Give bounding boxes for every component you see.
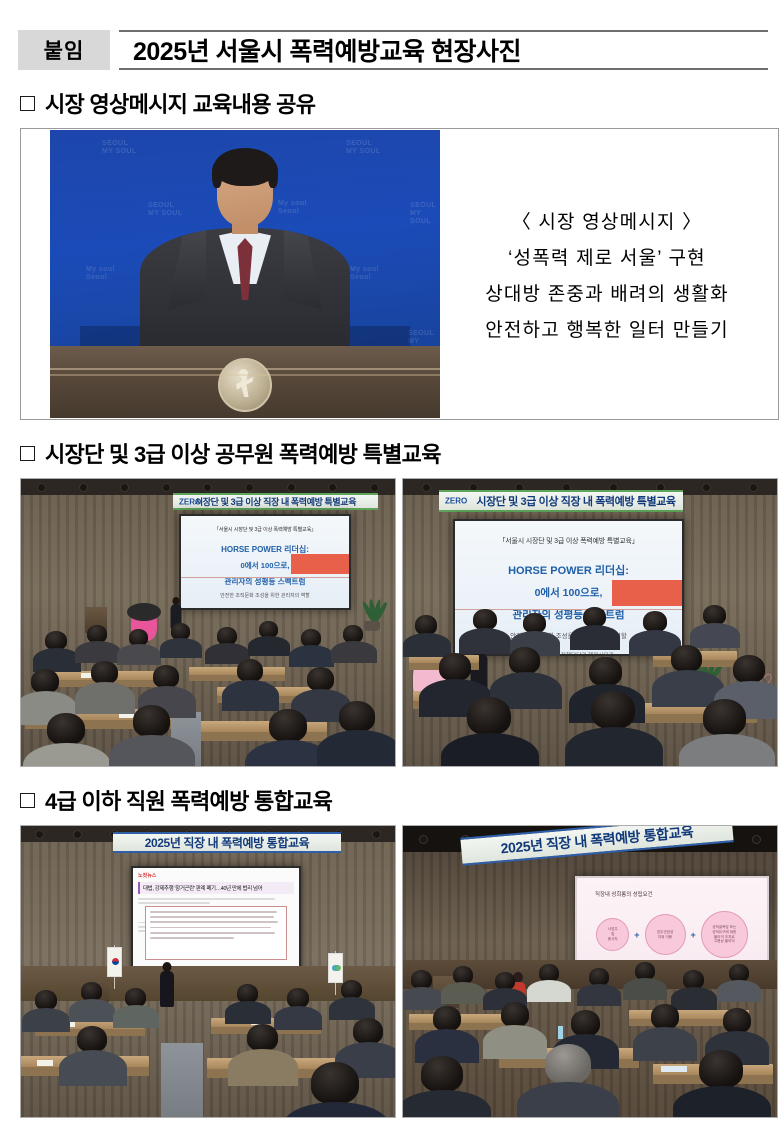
news-logo: 노컷뉴스 [138,872,294,879]
slide-header: 「서울시 시장단 및 3급 이상 폭력예방 특별교육」 [187,526,343,533]
integrated-training-photo-lecture: 2025년 직장 내 폭력예방 통합교육 노컷뉴스 대법, 강제추행 '항거곤란… [20,825,396,1118]
mayor-video-message-photo: SEOULMY SOUL SEOULMY SOUL SEOULMY SOUL S… [50,130,440,418]
section-3-label: 4급 이하 직원 폭력예방 통합교육 [45,784,332,816]
slide-header: 「서울시 시장단 및 3급 이상 폭력예방 특별교육」 [465,536,672,546]
section-heading-3: 4급 이하 직원 폭력예방 통합교육 [20,784,768,816]
section-2-photo-row: ZERO 시장단 및 3급 이상 직장 내 폭력예방 특별교육 「서울시 시장단… [20,478,779,767]
message-line-2: 상대방 존중과 배려의 생활화 [440,279,774,306]
audience-seating [403,960,777,1117]
section-heading-1: 시장 영상메시지 교육내용 공유 [20,87,768,119]
backdrop-shadow [348,326,410,346]
ceiling-lights [21,482,395,492]
plus-icon: + [634,930,639,940]
mayor-hair [214,148,276,186]
section-1-panel: SEOULMY SOUL SEOULMY SOUL SEOULMY SOUL S… [20,128,779,420]
mayor-message-text-block: 〈 시장 영상메시지 〉 ‘성폭력 제로 서울’ 구현 상대방 존중과 배려의 … [440,207,778,342]
empty-square-bullet-icon [20,96,35,111]
slide-accent-block [291,554,349,574]
slide-accent-block [612,580,682,606]
integrated-training-photo-wide: 2025년 직장 내 폭력예방 통합교육 직장내 성희롱의 성립요건 사업주 및… [402,825,778,1118]
slide-title: 직장내 성희롱의 성립요건 [595,890,759,898]
event-banner: ZERO 시장단 및 3급 이상 직장 내 폭력예방 특별교육 [439,490,683,512]
section-2-label: 시장단 및 3급 이상 공무원 폭력예방 특별교육 [45,437,441,469]
plus-icon: + [691,930,696,940]
event-banner: ZERO 시장단 및 3급 이상 직장 내 폭력예방 특별교육 [173,493,378,510]
zero-logo-icon: ZERO [445,497,467,506]
message-line-1: ‘성폭력 제로 서울’ 구현 [440,243,774,270]
attachment-badge: 붙임 [18,30,110,70]
section-1-label: 시장 영상메시지 교육내용 공유 [45,87,315,119]
document-page: 붙임 2025년 서울시 폭력예방교육 현장사진 시장 영상메시지 교육내용 공… [0,30,780,1138]
section-3-photo-row: 2025년 직장 내 폭력예방 통합교육 노컷뉴스 대법, 강제추행 '항거곤란… [20,825,779,1118]
slide-title-1: HORSE POWER 리더십: [465,562,672,578]
audience-seating [21,972,395,1118]
slide-circle-3: 성적굴욕감 또는 성적요구에 대한 불이익 조치로 고용상 불이익 [701,911,748,958]
section-heading-2: 시장단 및 3급 이상 공무원 폭력예방 특별교육 [20,437,768,469]
news-quote-box [145,906,287,960]
seoul-government-emblem-icon [218,358,272,412]
slide-circle-row: 사업주 및 종사자 + 업무관련성 지위 이용 + 성적굴욕감 또는 성적요구에… [585,911,759,958]
event-banner: 2025년 직장 내 폭력예방 통합교육 [113,832,341,853]
audience-seating [21,617,395,766]
audience-seating [403,605,777,766]
event-banner-text: 시장단 및 3급 이상 직장 내 폭력예방 특별교육 [195,495,356,508]
slide-circle-2: 업무관련성 지위 이용 [645,914,686,955]
event-banner-text: 시장단 및 3급 이상 직장 내 폭력예방 특별교육 [446,493,675,509]
special-training-photo-lecture: ZERO 시장단 및 3급 이상 직장 내 폭력예방 특별교육 「서울시 시장단… [402,478,778,767]
empty-square-bullet-icon [20,793,35,808]
news-headline: 대법, 강제추행 '항거곤란' 판례 폐기…40년 만에 법리 넘어 [138,882,294,894]
message-line-3: 안전하고 행복한 일터 만들기 [440,315,774,342]
slide-subtitle: 안전한 조직문화 조성을 위한 관리자의 역할 [187,592,343,599]
zero-logo-icon: ZERO [179,497,201,506]
projection-screen: 「서울시 시장단 및 3급 이상 폭력예방 특별교육」 HORSE POWER … [179,514,351,610]
page-title: 2025년 서울시 폭력예방교육 현장사진 [133,32,521,68]
slide-circle-1: 사업주 및 종사자 [596,918,629,951]
backdrop-shadow [80,326,142,346]
document-title-bar: 2025년 서울시 폭력예방교육 현장사진 [119,30,768,70]
slide-credit: 강철하 양성평등정책담당관 행정사무관 한국양성평등교육진흥원 폭력 전문강사 … [187,608,343,610]
empty-square-bullet-icon [20,446,35,461]
special-training-photo-wide: ZERO 시장단 및 3급 이상 직장 내 폭력예방 특별교육 「서울시 시장단… [20,478,396,767]
event-banner-text: 2025년 직장 내 폭력예방 통합교육 [145,834,310,851]
document-header: 붙임 2025년 서울시 폭력예방교육 현장사진 [18,30,768,70]
podium [50,346,440,418]
message-title: 〈 시장 영상메시지 〉 [440,207,774,234]
projection-screen: 노컷뉴스 대법, 강제추행 '항거곤란' 판례 폐기…40년 만에 법리 넘어 [131,866,301,970]
